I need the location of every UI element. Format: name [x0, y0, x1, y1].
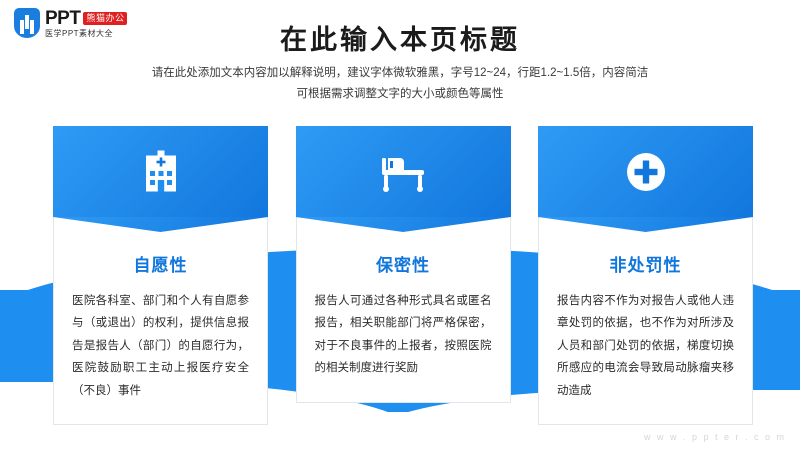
shield-icon — [14, 8, 40, 38]
card-non-punitive[interactable]: 非处罚性 报告内容不作为对报告人或他人违章处罚的依据，也不作为对所涉及人员和部门… — [538, 126, 753, 425]
card-non-punitive-heading: 非处罚性 — [557, 251, 734, 276]
brand-badge: 熊猫办公 — [83, 12, 127, 25]
page-subtitle-line-1: 请在此处添加文本内容加以解释说明，建议字体微软雅黑，字号12~24，行距1.2~… — [0, 63, 800, 84]
card-voluntary-header — [53, 126, 268, 217]
card-confidential-header — [296, 126, 511, 217]
slide-canvas: PPT 熊猫办公 医学PPT素材大全 在此输入本页标题 请在此处添加文本内容加以… — [0, 0, 800, 450]
page-subtitle-line-2: 可根据需求调整文字的大小或颜色等属性 — [0, 84, 800, 105]
hospital-bed-icon — [378, 150, 428, 194]
card-confidential-body: 保密性 报告人可通过各种形式具名或匿名报告，相关职能部门将严格保密，对于不良事件… — [296, 217, 511, 403]
page-subtitle: 请在此处添加文本内容加以解释说明，建议字体微软雅黑，字号12~24，行距1.2~… — [0, 63, 800, 106]
card-confidential[interactable]: 保密性 报告人可通过各种形式具名或匿名报告，相关职能部门将严格保密，对于不良事件… — [296, 126, 511, 425]
card-non-punitive-body: 非处罚性 报告内容不作为对报告人或他人违章处罚的依据，也不作为对所涉及人员和部门… — [538, 217, 753, 425]
brand-logo: PPT 熊猫办公 医学PPT素材大全 — [14, 8, 127, 38]
brand-logo-row: PPT 熊猫办公 — [45, 9, 127, 28]
brand-name: PPT — [45, 9, 80, 28]
card-row: 自愿性 医院各科室、部门和个人有自愿参与（或退出）的权利，提供信息报告是报告人（… — [53, 126, 753, 425]
medical-cross-circle-icon — [624, 150, 668, 194]
card-voluntary-body: 自愿性 医院各科室、部门和个人有自愿参与（或退出）的权利，提供信息报告是报告人（… — [53, 217, 268, 425]
footer-watermark: w w w . p p t e r . c o m — [644, 432, 786, 442]
card-non-punitive-text: 报告内容不作为对报告人或他人违章处罚的依据，也不作为对所涉及人员和部门处罚的依据… — [557, 290, 734, 402]
card-voluntary[interactable]: 自愿性 医院各科室、部门和个人有自愿参与（或退出）的权利，提供信息报告是报告人（… — [53, 126, 268, 425]
card-confidential-heading: 保密性 — [315, 251, 492, 276]
hospital-icon — [140, 150, 182, 194]
card-confidential-text: 报告人可通过各种形式具名或匿名报告，相关职能部门将严格保密，对于不良事件的上报者… — [315, 290, 492, 380]
card-non-punitive-header — [538, 126, 753, 217]
card-voluntary-text: 医院各科室、部门和个人有自愿参与（或退出）的权利，提供信息报告是报告人（部门）的… — [72, 290, 249, 402]
brand-subtitle: 医学PPT素材大全 — [45, 30, 127, 38]
card-voluntary-heading: 自愿性 — [72, 251, 249, 276]
brand-logo-text: PPT 熊猫办公 医学PPT素材大全 — [45, 9, 127, 38]
